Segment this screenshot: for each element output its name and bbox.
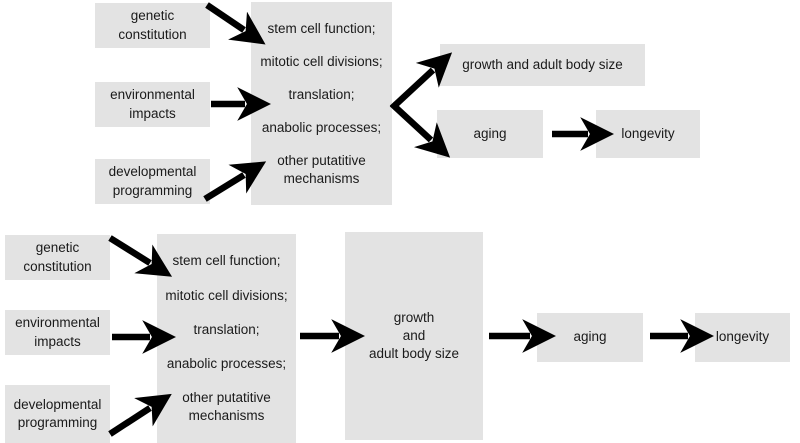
mechanism-line-1: stem cell function;	[267, 20, 375, 38]
arrow-mechanisms-to-aging-top	[392, 104, 431, 140]
box-label-line1: environmental	[110, 86, 195, 104]
bottom-growth-adult-body-size-box: growth and adult body size	[345, 232, 483, 440]
box-label-line1: developmental	[109, 163, 197, 181]
box-label: aging	[473, 125, 506, 143]
bottom-longevity-box: longevity	[695, 313, 790, 362]
mechanism-line-5: other putatitive	[277, 152, 366, 170]
box-label-line1: environmental	[15, 314, 100, 332]
mechanism-line-2: mitotic cell divisions;	[260, 53, 382, 71]
mechanism-line-2: mitotic cell divisions;	[165, 287, 287, 305]
diagram-canvas: genetic constitution environmental impac…	[0, 0, 800, 443]
bottom-aging-box: aging	[537, 313, 643, 362]
mechanism-line-6: mechanisms	[182, 407, 271, 425]
box-label: longevity	[716, 328, 769, 346]
box-label: growth and adult body size	[462, 56, 623, 74]
bottom-genetic-constitution-box: genetic constitution	[5, 235, 110, 280]
mechanism-line-3: translation;	[193, 321, 259, 339]
top-genetic-constitution-box: genetic constitution	[95, 3, 210, 48]
box-label-line2: programming	[18, 414, 98, 432]
box-label-line2: and	[403, 327, 426, 345]
top-developmental-programming-box: developmental programming	[95, 159, 210, 204]
box-label-line2: impacts	[129, 105, 176, 123]
box-label-line1: developmental	[14, 396, 102, 414]
mechanism-line-5: other putatitive	[182, 389, 271, 407]
mechanism-line-1: stem cell function;	[172, 252, 280, 270]
arrow-mechanisms-to-growth-top	[392, 70, 433, 108]
box-label-line1: growth	[394, 309, 435, 327]
mechanism-line-4: anabolic processes;	[262, 119, 381, 137]
top-aging-box: aging	[437, 110, 543, 158]
top-mechanisms-box: stem cell function; mitotic cell divisio…	[251, 2, 392, 205]
top-environmental-impacts-box: environmental impacts	[95, 82, 210, 127]
box-label-line1: genetic	[131, 7, 175, 25]
mechanism-line-3: translation;	[288, 86, 354, 104]
box-label-line2: programming	[113, 182, 193, 200]
bottom-developmental-programming-box: developmental programming	[5, 385, 110, 443]
box-label-line2: impacts	[34, 333, 81, 351]
box-label: aging	[573, 328, 606, 346]
arrow-genetic-to-mechanisms-top	[207, 5, 244, 30]
bottom-mechanisms-box: stem cell function; mitotic cell divisio…	[157, 234, 296, 443]
arrow-developmental-to-mechanisms-bottom	[110, 408, 150, 434]
top-longevity-box: longevity	[596, 110, 700, 158]
box-label-line1: genetic	[36, 239, 80, 257]
box-label-line2: constitution	[118, 26, 186, 44]
arrow-developmental-to-mechanisms-top	[205, 175, 244, 199]
mechanism-line-4: anabolic processes;	[167, 355, 286, 373]
box-label-line2: constitution	[23, 258, 91, 276]
mechanism-line-6: mechanisms	[277, 170, 366, 188]
top-growth-adult-body-size-box: growth and adult body size	[440, 44, 645, 86]
box-label: longevity	[621, 125, 674, 143]
bottom-environmental-impacts-box: environmental impacts	[5, 310, 110, 355]
arrow-genetic-to-mechanisms-bottom	[110, 238, 150, 263]
box-label-line3: adult body size	[369, 345, 459, 363]
